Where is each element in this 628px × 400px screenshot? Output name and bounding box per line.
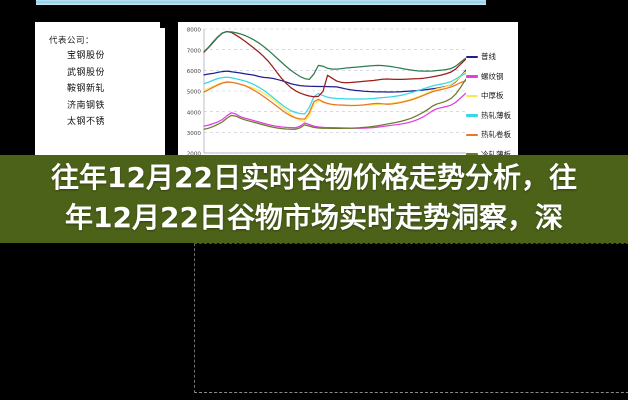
legend-item-3: 中厚板 [466,86,518,106]
svg-text:7000: 7000 [187,48,202,54]
list-item: 济南钢铁 [67,98,105,115]
legend-item-2: 螺纹钢 [466,67,518,87]
legend-swatch-icon [466,134,478,137]
svg-text:8000: 8000 [187,28,202,34]
legend-label: 中厚板 [481,90,504,101]
screenshot-canvas: 代表公司： 宝钢股份 武钢股份 鞍钢新轧 济南钢铁 太钢不锈 800070006… [0,0,628,400]
legend-item-1: 普线 [466,47,518,67]
legend-swatch-icon [466,75,478,78]
legend-label: 热轧卷板 [481,129,511,140]
legend-swatch-icon [466,95,478,98]
headline-line-2: 年12月22日谷物市场实时走势洞察，深 [0,198,628,238]
company-list-heading: 代表公司： [49,34,94,46]
legend-swatch-icon [466,56,478,59]
company-list-panel: 代表公司： 宝钢股份 武钢股份 鞍钢新轧 济南钢铁 太钢不锈 [35,22,165,155]
legend-item-5: 热轧卷板 [466,125,518,145]
list-item: 鞍钢新轧 [67,81,105,98]
page-title: 往年12月22日实时谷物价格走势分析，往 年12月22日谷物市场实时走势洞察，深 [0,158,628,238]
legend-label: 普线 [481,51,496,62]
legend-label: 热轧薄板 [481,110,511,121]
legend-swatch-icon [466,114,478,117]
svg-text:3000: 3000 [187,131,202,137]
list-item: 宝钢股份 [67,48,105,65]
list-item: 武钢股份 [67,65,105,82]
panel-corner-notch [160,20,168,28]
legend-label: 螺纹钢 [481,71,504,82]
price-trend-line-chart: 8000700060005000400030002000 [178,22,478,155]
svg-text:4000: 4000 [187,110,202,116]
legend-item-4: 热轧薄板 [466,106,518,126]
steel-price-chart-panel: 8000700060005000400030002000 [178,22,478,155]
list-item: 太钢不锈 [67,114,105,131]
company-list: 宝钢股份 武钢股份 鞍钢新轧 济南钢铁 太钢不锈 [67,48,105,131]
chart-legend-panel: 普线螺纹钢中厚板热轧薄板热轧卷板冷轧薄板 [466,22,518,155]
svg-text:5000: 5000 [187,90,202,96]
chart-legend: 普线螺纹钢中厚板热轧薄板热轧卷板冷轧薄板 [466,47,518,164]
headline-line-1: 往年12月22日实时谷物价格走势分析，往 [0,158,628,198]
svg-text:6000: 6000 [187,69,202,75]
slide-top-accent-bar [36,0,486,5]
dashed-placeholder-frame [194,243,628,393]
